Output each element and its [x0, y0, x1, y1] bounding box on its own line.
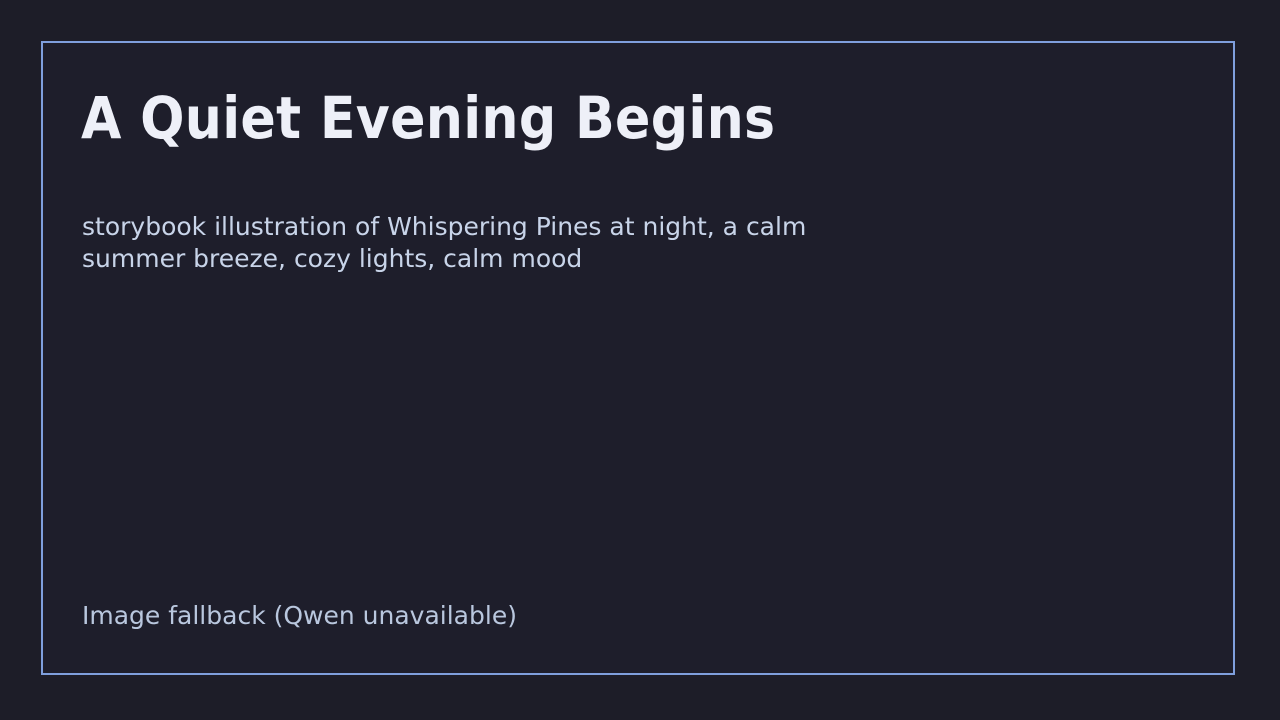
card-content: A Quiet Evening Begins storybook illustr…: [43, 43, 1233, 673]
status-text: Image fallback (Qwen unavailable): [82, 601, 517, 631]
image-prompt-text: storybook illustration of Whispering Pin…: [82, 211, 912, 275]
page-title: A Quiet Evening Begins: [81, 87, 775, 150]
image-fallback-card: A Quiet Evening Begins storybook illustr…: [41, 41, 1235, 675]
image-placeholder-area: [82, 291, 1194, 581]
